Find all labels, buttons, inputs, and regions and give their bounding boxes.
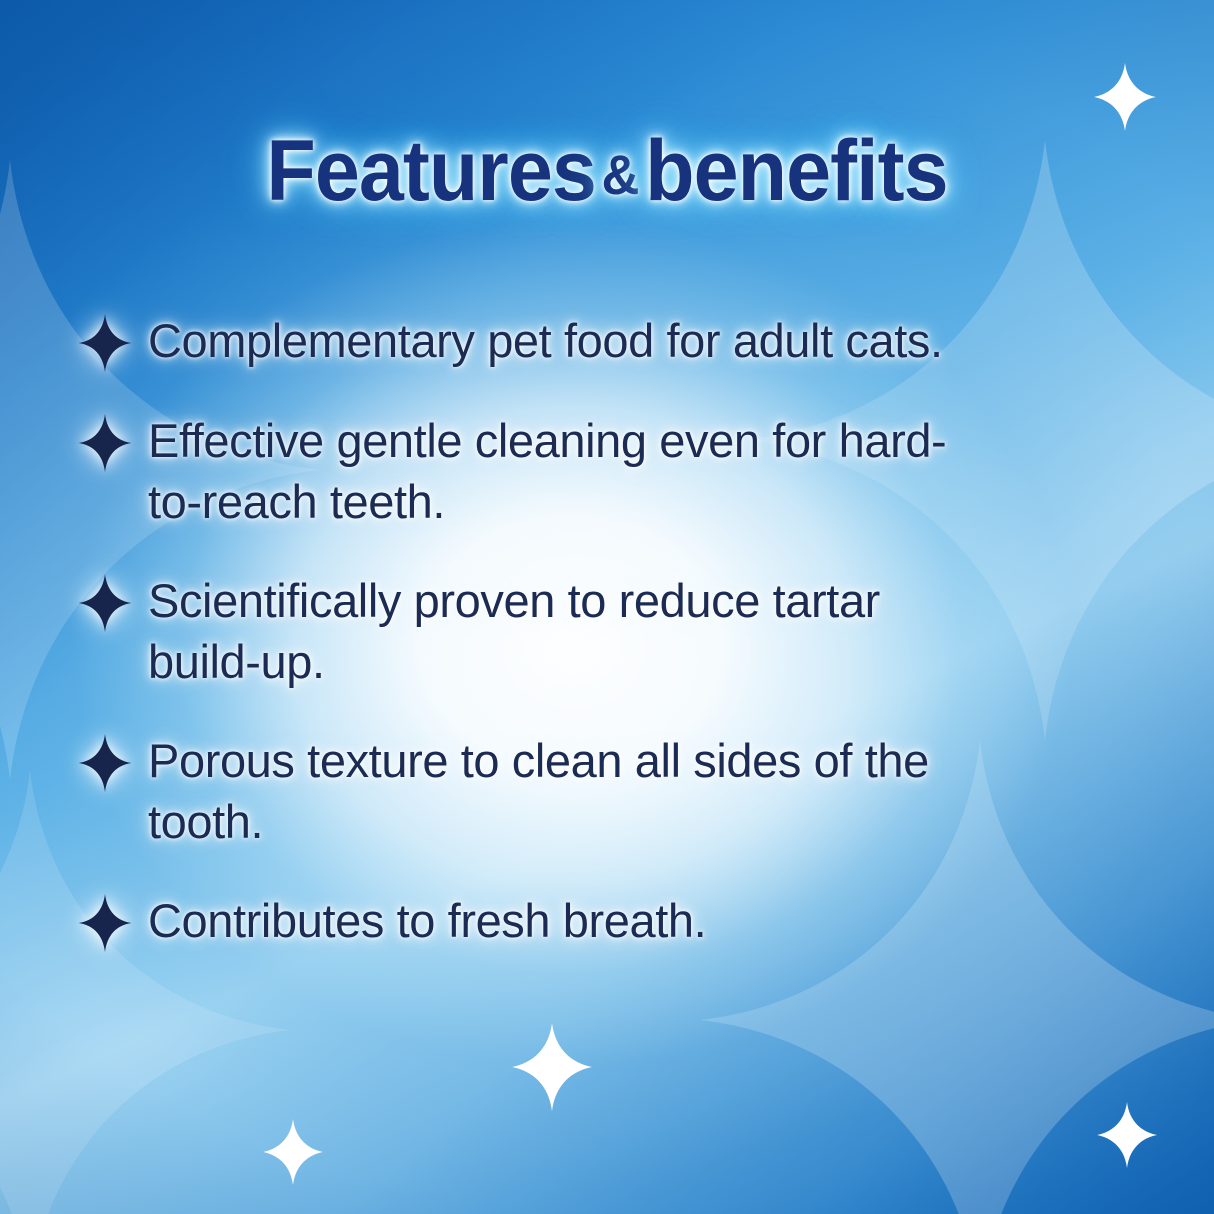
list-item-label: Contributes to fresh breath. bbox=[148, 890, 706, 951]
list-item: Effective gentle cleaning even for hard-… bbox=[78, 410, 1168, 532]
list-item: Scientifically proven to reduce tartar b… bbox=[78, 570, 1168, 692]
sparkle-bullet-icon bbox=[78, 574, 132, 632]
page-title-ampersand: & bbox=[596, 143, 645, 206]
list-item: Complementary pet food for adult cats. bbox=[78, 310, 1168, 372]
list-item: Porous texture to clean all sides of the… bbox=[78, 730, 1168, 852]
page-title-part2: benefits bbox=[645, 123, 947, 219]
list-item-label: Scientifically proven to reduce tartar b… bbox=[148, 570, 908, 692]
sparkle-bullet-icon bbox=[78, 314, 132, 372]
page-title: Features&benefits bbox=[36, 122, 1177, 221]
list-item: Contributes to fresh breath. bbox=[78, 890, 1168, 952]
sparkle-bullet-icon bbox=[78, 734, 132, 792]
list-item-label: Effective gentle cleaning even for hard-… bbox=[148, 410, 978, 532]
list-item-label: Complementary pet food for adult cats. bbox=[148, 310, 943, 371]
promo-card: Features&benefits Complementary pet food… bbox=[0, 0, 1214, 1214]
content-area: Features&benefits Complementary pet food… bbox=[0, 0, 1214, 1214]
page-title-part1: Features bbox=[266, 123, 595, 219]
sparkle-bullet-icon bbox=[78, 414, 132, 472]
features-list: Complementary pet food for adult cats. E… bbox=[78, 310, 1168, 952]
list-item-label: Porous texture to clean all sides of the… bbox=[148, 730, 998, 852]
sparkle-bullet-icon bbox=[78, 894, 132, 952]
